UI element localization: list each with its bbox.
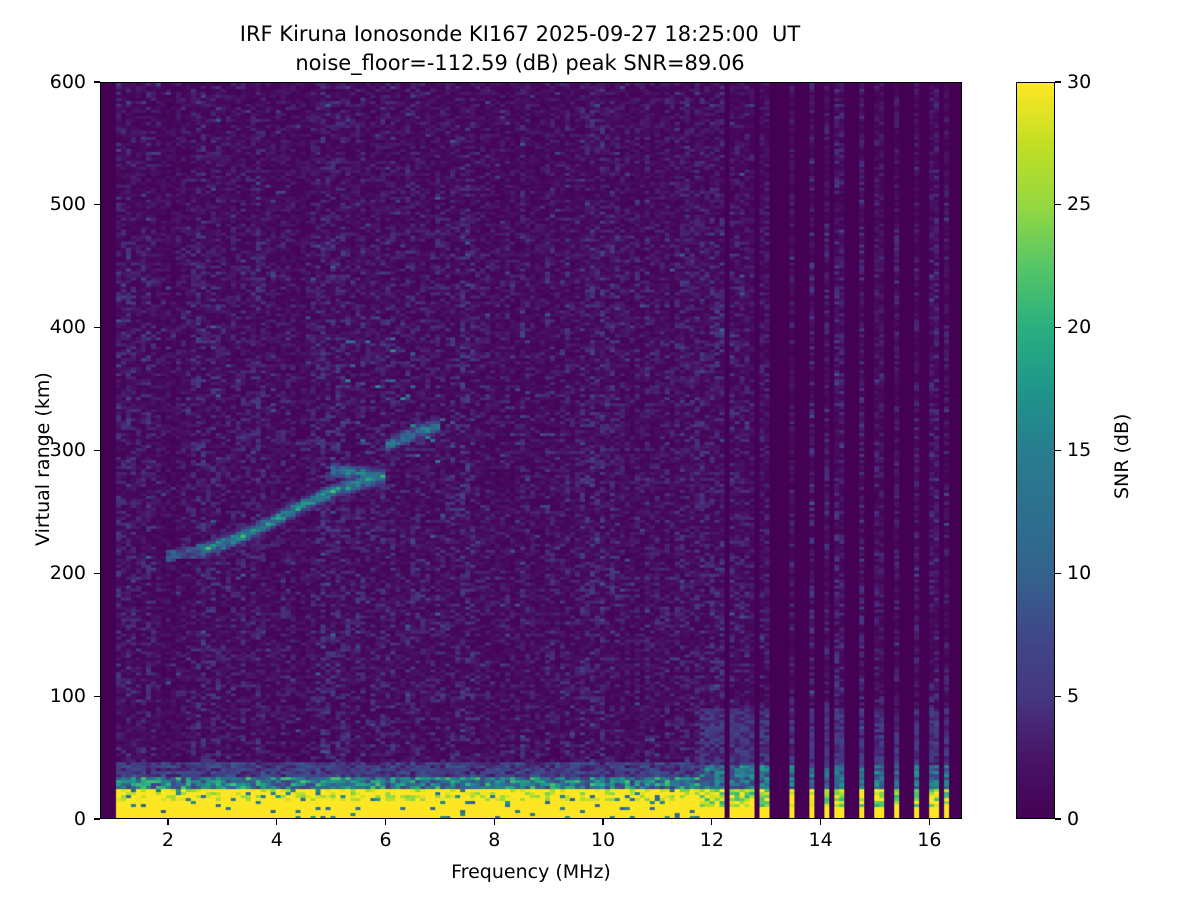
y-tick-mark [94, 818, 100, 819]
y-tick-label: 500 [31, 195, 86, 214]
x-tick-mark [494, 819, 495, 825]
x-tick-label: 10 [573, 831, 633, 850]
ionogram-heatmap-canvas [101, 83, 961, 818]
x-tick-mark [385, 819, 386, 825]
y-tick-mark [94, 696, 100, 697]
y-tick-mark [94, 450, 100, 451]
x-tick-label: 16 [899, 831, 959, 850]
colorbar-tick-label: 25 [1067, 195, 1091, 214]
x-tick-mark [276, 819, 277, 825]
ionogram-plot-area [100, 82, 962, 819]
x-tick-label: 4 [247, 831, 307, 850]
x-axis-label: Frequency (MHz) [100, 861, 962, 883]
x-tick-label: 6 [356, 831, 416, 850]
y-tick-label: 100 [31, 687, 86, 706]
y-tick-mark [94, 204, 100, 205]
x-tick-mark [602, 819, 603, 825]
y-tick-mark [94, 81, 100, 82]
x-tick-mark [929, 819, 930, 825]
colorbar-tick-mark [1055, 696, 1061, 697]
y-axis-label: Virtual range (km) [32, 372, 54, 546]
colorbar-tick-label: 20 [1067, 318, 1091, 337]
ionogram-figure: IRF Kiruna Ionosonde KI167 2025-09-27 18… [0, 0, 1200, 900]
colorbar-tick-label: 30 [1067, 73, 1091, 92]
colorbar-tick-mark [1055, 450, 1061, 451]
x-tick-label: 14 [791, 831, 851, 850]
y-tick-label: 200 [31, 564, 86, 583]
x-tick-mark [711, 819, 712, 825]
colorbar-tick-mark [1055, 573, 1061, 574]
chart-title-line-2: noise_floor=-112.59 (dB) peak SNR=89.06 [0, 49, 1040, 78]
y-tick-mark [94, 327, 100, 328]
colorbar [1016, 82, 1055, 819]
x-tick-label: 8 [464, 831, 524, 850]
y-tick-label: 400 [31, 318, 86, 337]
y-tick-mark [94, 573, 100, 574]
y-tick-label: 600 [31, 73, 86, 92]
chart-title: IRF Kiruna Ionosonde KI167 2025-09-27 18… [0, 20, 1040, 78]
colorbar-tick-label: 0 [1067, 810, 1079, 829]
colorbar-tick-mark [1055, 81, 1061, 82]
colorbar-tick-label: 10 [1067, 564, 1091, 583]
colorbar-tick-label: 5 [1067, 687, 1079, 706]
colorbar-tick-mark [1055, 204, 1061, 205]
y-tick-label: 0 [31, 810, 86, 829]
colorbar-tick-label: 15 [1067, 441, 1091, 460]
colorbar-label: SNR (dB) [1111, 413, 1133, 498]
colorbar-tick-mark [1055, 327, 1061, 328]
x-tick-label: 12 [682, 831, 742, 850]
x-tick-mark [820, 819, 821, 825]
x-tick-mark [167, 819, 168, 825]
colorbar-tick-mark [1055, 818, 1061, 819]
chart-title-line-1: IRF Kiruna Ionosonde KI167 2025-09-27 18… [0, 20, 1040, 49]
x-tick-label: 2 [138, 831, 198, 850]
